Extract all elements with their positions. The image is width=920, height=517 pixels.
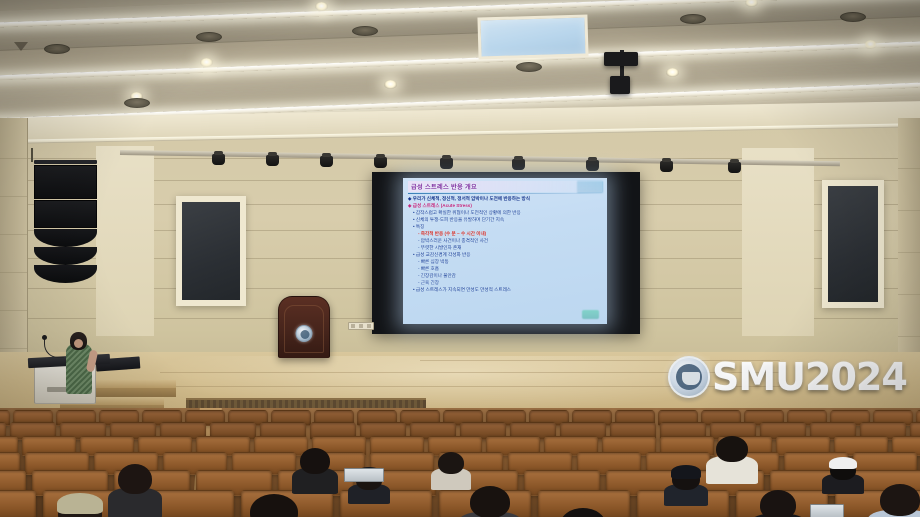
attendee-cap	[671, 465, 701, 479]
slide-line: • 갑작스럽고 확실한 위협이나 도전적인 상황에 의한 반응	[408, 210, 602, 217]
recessed-downlight	[516, 62, 542, 72]
slide-line: - 근육 긴장	[408, 280, 602, 287]
line-array-loudspeaker	[34, 161, 97, 293]
ceremonial-podium[interactable]	[278, 296, 330, 358]
recessed-downlight	[680, 14, 706, 24]
track-spotlight	[660, 161, 673, 172]
slide-logo-bottom-right	[582, 310, 599, 319]
attendee-head	[470, 486, 510, 517]
recessed-downlight	[196, 32, 222, 42]
slide-line: • 신체의 투쟁-도피 반응을 유발하며 단기간 지속	[408, 217, 602, 224]
slide-line: ◈ 우리가 신체적, 정신적, 정서적 압박이나 도전에 반응하는 방식	[408, 196, 602, 203]
recessed-downlight	[44, 44, 70, 54]
attendee-head	[438, 452, 464, 474]
slide-line: - 빠른 호흡	[408, 266, 602, 273]
wall-column	[96, 146, 154, 336]
ceiling-spotlight	[200, 58, 213, 67]
track-spotlight	[586, 160, 599, 171]
acoustic-panel-right	[822, 180, 884, 308]
track-spotlight	[374, 157, 387, 168]
slide-title-rule	[408, 193, 602, 194]
track-spotlight	[512, 159, 525, 170]
recessed-downlight	[840, 12, 866, 22]
track-spotlight	[212, 154, 225, 165]
track-spotlight	[728, 162, 741, 173]
slide-line: - 긴장감이나 불안감	[408, 273, 602, 280]
ceiling-spotlight	[315, 2, 328, 11]
attendee-head	[880, 484, 920, 516]
audience-seating-area	[0, 408, 920, 517]
ceiling-projector	[604, 52, 638, 66]
slide-line: - 압박스러운 사건이나 충격적인 사건	[408, 238, 602, 245]
ceiling-spotlight	[666, 68, 679, 77]
slide-body: ◈ 우리가 신체적, 정신적, 정서적 압박이나 도전에 반응하는 방식◈ 급성…	[408, 196, 602, 294]
presenter-face	[74, 339, 83, 348]
attendee-cap	[57, 493, 103, 514]
slide-line: - 뚜렷한 시발인자 존재	[408, 245, 602, 252]
ceiling-vent-marker	[14, 42, 28, 51]
wall-column	[742, 148, 814, 336]
wall-power-outlet[interactable]	[348, 322, 374, 330]
track-spotlight	[266, 155, 279, 166]
attendee-laptop	[810, 504, 844, 517]
ceiling-projector	[610, 76, 630, 94]
slide-line: • 급성 스트레스가 지속되면 만성도 만성적 스트레스	[408, 287, 602, 294]
auditorium-seat[interactable]	[0, 490, 36, 517]
presentation-slide: 급성 스트레스 반응 개요 ◈ 우리가 신체적, 정신적, 정서적 압박이나 도…	[403, 178, 607, 324]
slide-title: 급성 스트레스 반응 개요	[408, 181, 602, 192]
recessed-downlight	[124, 98, 150, 108]
attendee-cap	[829, 457, 857, 469]
attendee-laptop	[344, 468, 384, 482]
attendee-head	[760, 490, 796, 517]
recessed-downlight	[352, 26, 378, 36]
slide-line: • 급성 교감신경계 각성화 반응	[408, 252, 602, 259]
podium-emblem	[296, 325, 313, 342]
ceiling-light-panel	[477, 14, 588, 59]
ceiling-spotlight	[384, 80, 397, 89]
speaker-rigging	[31, 148, 33, 162]
slide-line: - 빠른 심장 박동	[408, 259, 602, 266]
slide-line: • 특징	[408, 224, 602, 231]
slide-line: ◈ 급성 스트레스 (Acute Stress)	[408, 203, 602, 210]
track-spotlight	[440, 158, 453, 169]
acoustic-panel-left	[176, 196, 246, 306]
ceiling-spotlight	[864, 40, 877, 49]
attendee-head	[300, 448, 330, 474]
attendee-head	[716, 436, 748, 462]
lecture-hall-photo: 급성 스트레스 반응 개요 ◈ 우리가 신체적, 정신적, 정서적 압박이나 도…	[0, 0, 920, 517]
attendee-head	[118, 464, 152, 494]
slide-line: - 즉각적 반응 (수 분 ~ 수 시간 이내)	[408, 231, 602, 238]
track-spotlight	[320, 156, 333, 167]
